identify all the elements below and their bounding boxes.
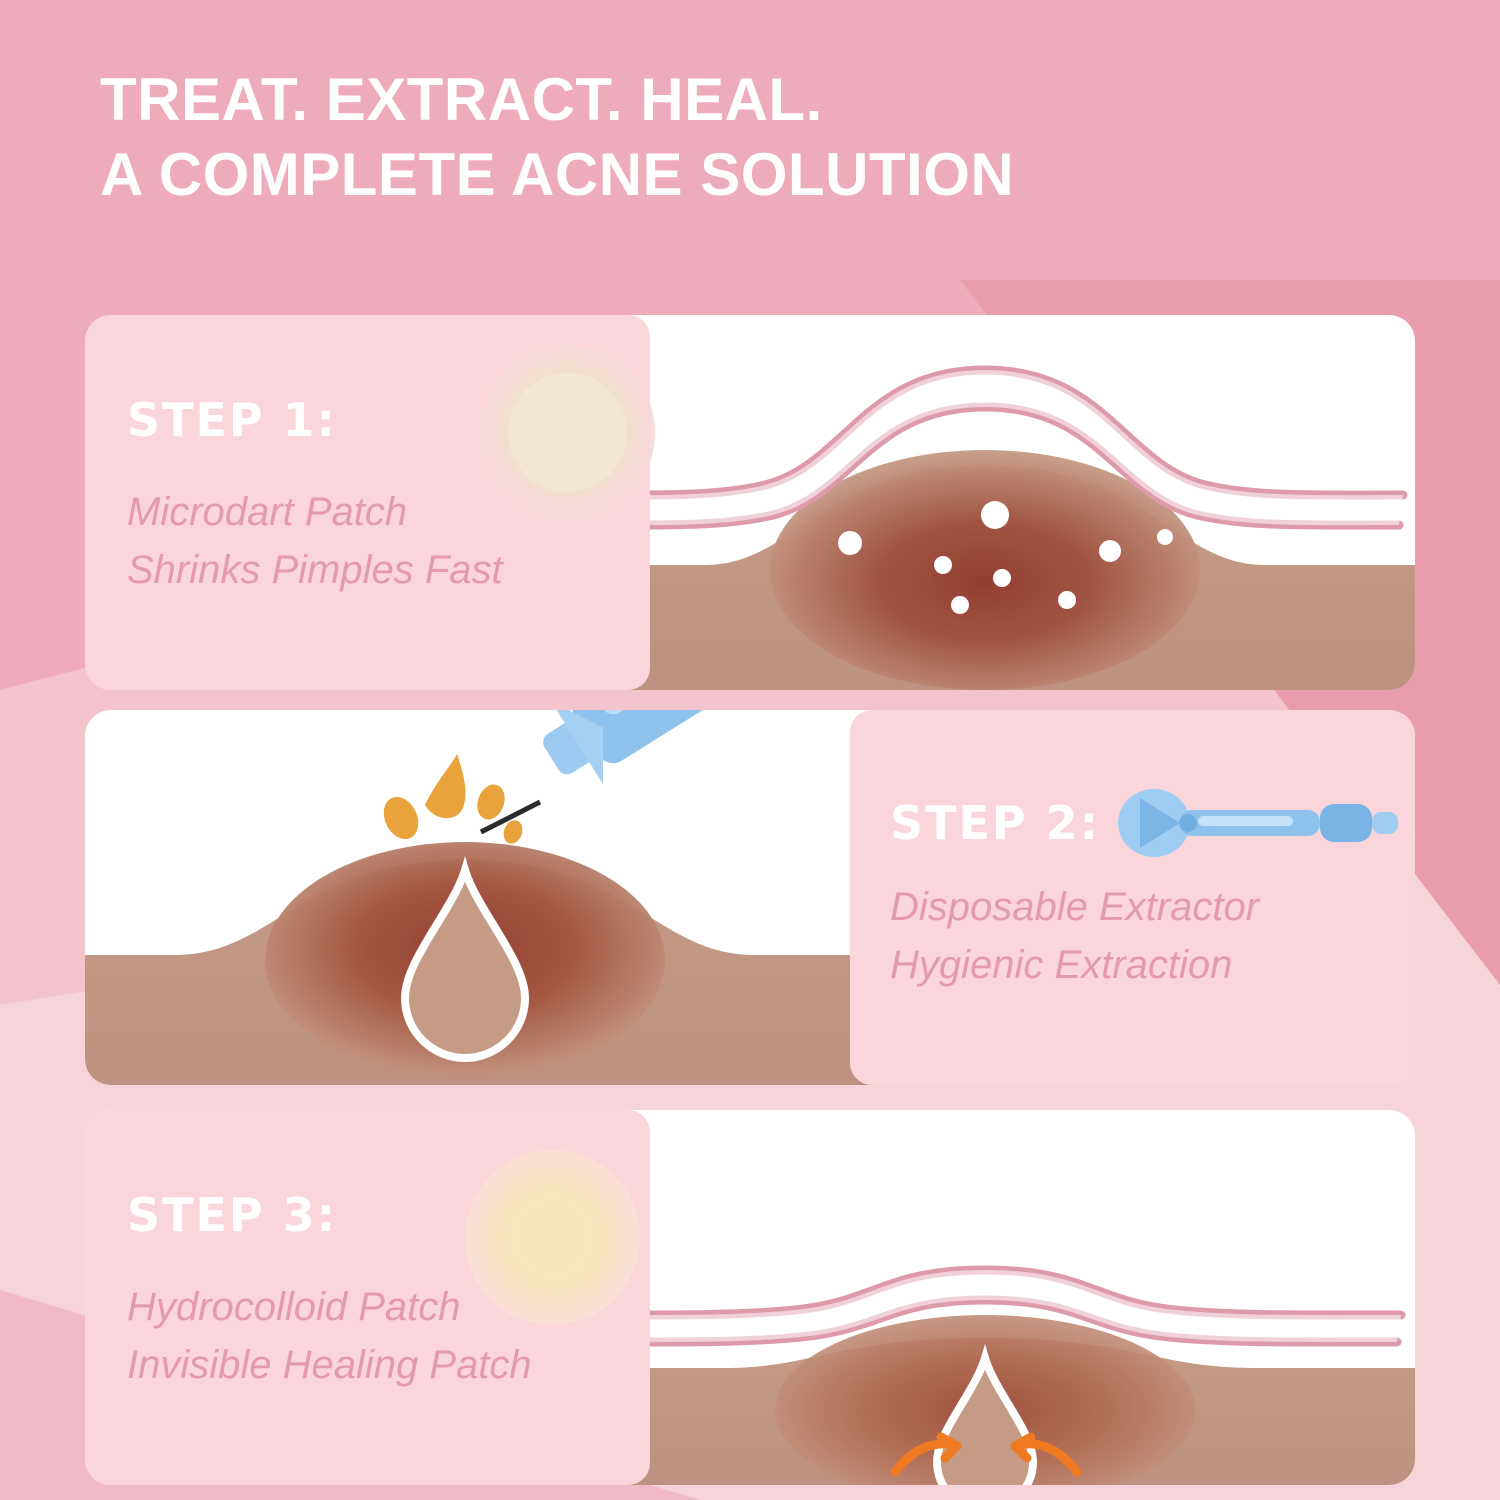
healing-pimple-with-patch-illustration [565,1110,1415,1485]
step-2-heading: STEP 2: [890,788,1408,858]
pimple-with-microdart-patch-illustration [565,315,1415,690]
step-1-description: Microdart Patch Shrinks Pimples Fast [127,483,647,599]
step-1-label: STEP 1: [127,393,337,447]
step-3-label-panel: STEP 3: Hydrocolloid Patch Invisible Hea… [85,1110,650,1485]
step-3-desc-line-2: Invisible Healing Patch [127,1336,647,1394]
step-card-1: STEP 1: Microdart Patch Shrinks Pimples … [85,315,1415,690]
step-3-label: STEP 3: [127,1188,337,1242]
disposable-extractor-icon [1118,788,1408,858]
step-2-label-panel: STEP 2: Disposable Extractor Hygienic Ex… [850,710,1415,1085]
step-2-desc-line-2: Hygienic Extraction [890,936,1410,994]
extraction-of-pimple-illustration [85,710,885,1085]
title-line-2: A COMPLETE ACNE SOLUTION [100,137,1400,212]
step-1-heading: STEP 1: [127,393,337,447]
title-line-1: TREAT. EXTRACT. HEAL. [100,62,1400,137]
step-2-label: STEP 2: [890,796,1100,850]
step-1-label-panel: STEP 1: Microdart Patch Shrinks Pimples … [85,315,650,690]
step-card-3: STEP 3: Hydrocolloid Patch Invisible Hea… [85,1110,1415,1485]
step-2-desc-line-1: Disposable Extractor [890,878,1410,936]
step-3-heading: STEP 3: [127,1188,337,1242]
page-title: TREAT. EXTRACT. HEAL. A COMPLETE ACNE SO… [100,62,1400,212]
step-3-desc-line-1: Hydrocolloid Patch [127,1278,647,1336]
step-card-2: STEP 2: Disposable Extractor Hygienic Ex… [85,710,1415,1085]
step-2-description: Disposable Extractor Hygienic Extraction [890,878,1410,994]
step-1-desc-line-2: Shrinks Pimples Fast [127,541,647,599]
step-1-desc-line-1: Microdart Patch [127,483,647,541]
step-3-description: Hydrocolloid Patch Invisible Healing Pat… [127,1278,647,1394]
